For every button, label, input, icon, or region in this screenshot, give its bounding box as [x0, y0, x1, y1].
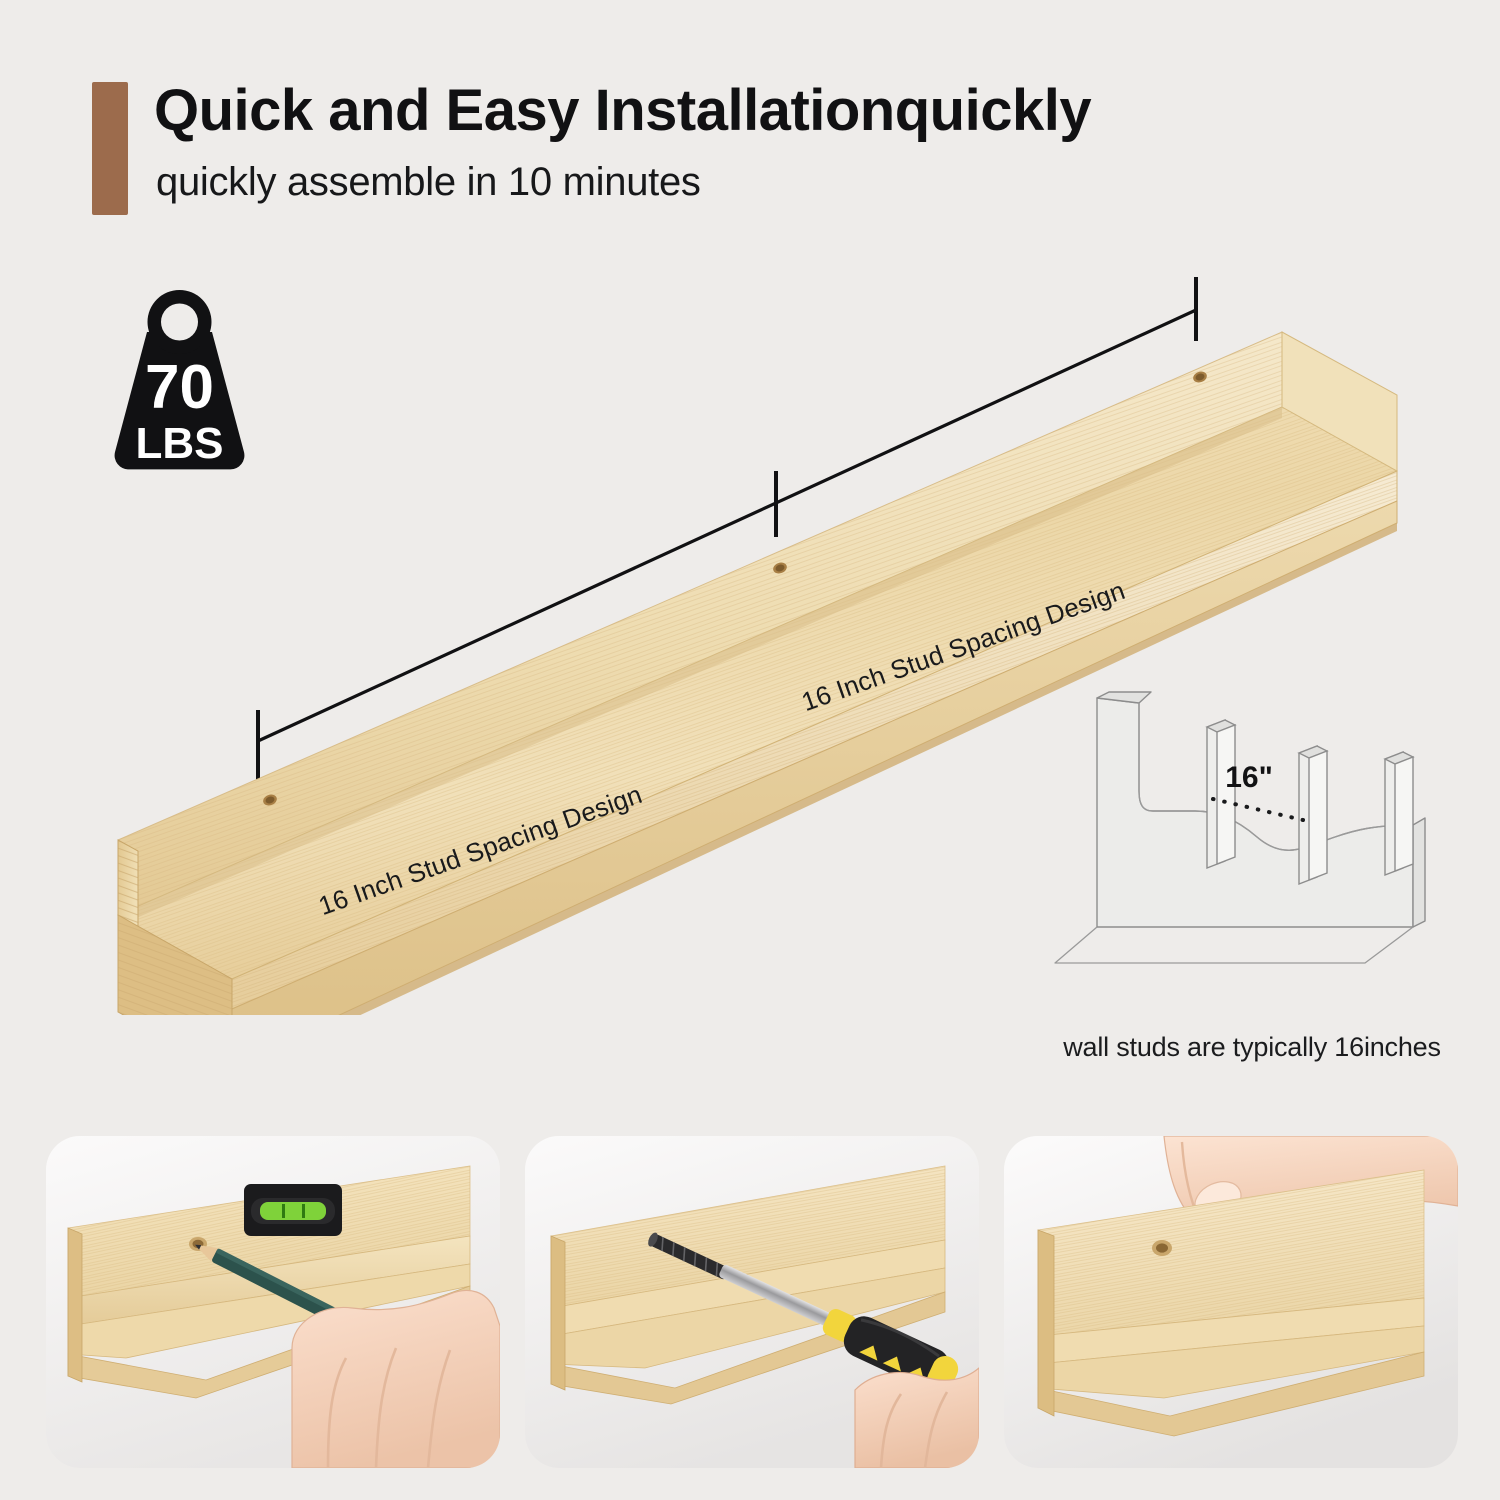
accent-bar	[92, 82, 128, 215]
bubble-level	[244, 1184, 342, 1236]
step-mark-with-pencil	[46, 1136, 500, 1468]
stud	[1207, 720, 1235, 868]
step-drive-screw	[525, 1136, 979, 1468]
installation-steps	[46, 1136, 1458, 1468]
infographic-root: Quick and Easy Installationquickly quick…	[0, 0, 1500, 1500]
stud	[1385, 752, 1413, 875]
page-subtitle: quickly assemble in 10 minutes	[156, 160, 701, 205]
measure-label: 16"	[1225, 761, 1273, 794]
page-title: Quick and Easy Installationquickly	[154, 78, 1091, 145]
stud	[1299, 746, 1327, 884]
stud-diagram-caption: wall studs are typically 16inches	[1022, 1032, 1482, 1063]
hand	[855, 1368, 979, 1468]
wall-slab	[1097, 698, 1413, 927]
step-place-shelf	[1004, 1136, 1458, 1468]
hand	[292, 1290, 500, 1468]
wall-stud-diagram: 16"	[1035, 665, 1465, 995]
